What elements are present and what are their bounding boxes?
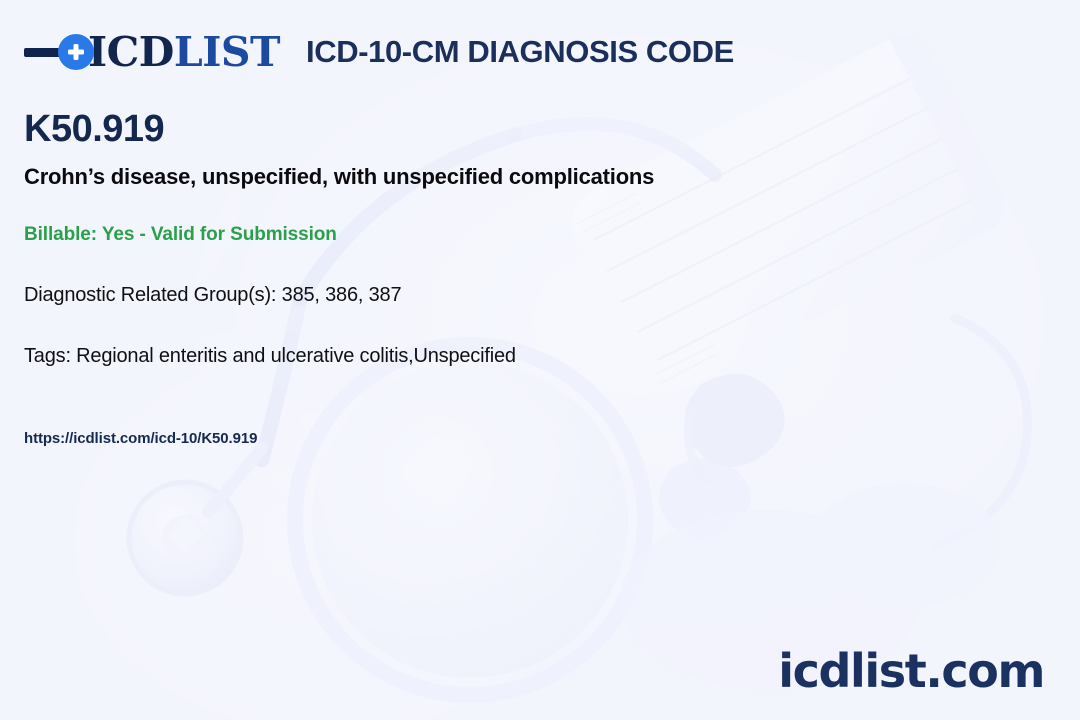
billable-status: Billable: Yes - Valid for Submission <box>24 224 1024 246</box>
icd-code-card: ICDLIST ICD-10-CM DIAGNOSIS CODE K50.919… <box>0 0 1080 720</box>
logo-word-icd: ICD <box>88 28 174 76</box>
logo-wordmark: ICDLIST <box>88 28 280 76</box>
page-header: ICDLIST ICD-10-CM DIAGNOSIS CODE <box>24 22 734 82</box>
code-details: K50.919 Crohn’s disease, unspecified, wi… <box>24 110 1024 447</box>
page-title: ICD-10-CM DIAGNOSIS CODE <box>306 34 734 70</box>
plus-circle-icon <box>58 34 94 70</box>
logo-word-list: LIST <box>174 28 280 76</box>
source-url[interactable]: https://icdlist.com/icd-10/K50.919 <box>24 430 1024 447</box>
diagnosis-description: Crohn’s disease, unspecified, with unspe… <box>24 164 1024 190</box>
diagnosis-code: K50.919 <box>24 110 1024 150</box>
icdlist-logo[interactable]: ICDLIST <box>24 22 280 82</box>
site-watermark: icdlist.com <box>778 644 1044 698</box>
tags-line: Tags: Regional enteritis and ulcerative … <box>24 345 1024 368</box>
diagnostic-related-groups: Diagnostic Related Group(s): 385, 386, 3… <box>24 284 1024 307</box>
